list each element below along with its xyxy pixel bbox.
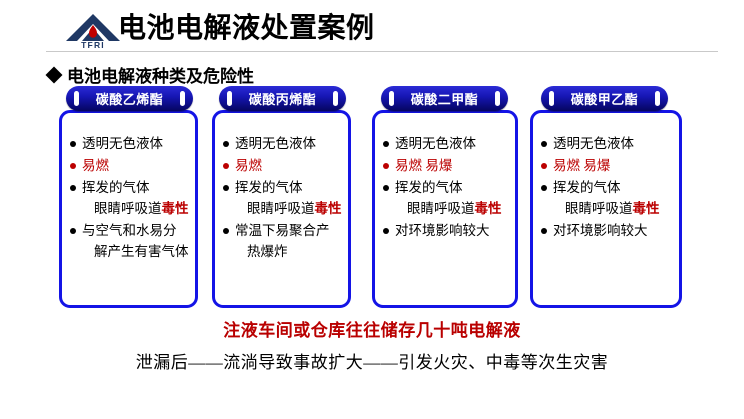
- list-item-line2: 解产生有害气体: [82, 241, 189, 262]
- rivet-icon: [227, 91, 232, 106]
- rivet-icon: [333, 91, 338, 106]
- list-item-line1: 对环境影响较大: [553, 223, 648, 238]
- bullet-dot-icon: [223, 163, 229, 169]
- card-title: 碳酸丙烯酯: [249, 89, 317, 108]
- list-item-line1: 透明无色液体: [553, 136, 634, 151]
- warning-text: 注液车间或仓库往往储存几十吨电解液: [0, 318, 744, 344]
- list-item-line1: 易燃 易爆: [553, 158, 610, 173]
- substance-card: 透明无色液体 易燃 易爆 挥发的气体 眼睛呼吸道毒性: [530, 110, 682, 308]
- list-item-line1: 挥发的气体: [235, 180, 303, 195]
- list-item-line1: 易燃: [82, 158, 109, 173]
- section-heading: 电池电解液种类及危险性: [48, 62, 254, 87]
- list-item-line2-emphasis: 毒性: [475, 201, 502, 216]
- list-item: 透明无色液体: [70, 133, 189, 154]
- hazard-list: 透明无色液体 易燃 挥发的气体 眼睛呼吸道毒性: [62, 133, 195, 263]
- slide-header: TFRI 电池电解液处置案例: [0, 0, 744, 52]
- list-item: 透明无色液体: [223, 133, 342, 154]
- list-item-line1: 透明无色液体: [235, 136, 316, 151]
- list-item-line2-emphasis: 毒性: [162, 201, 189, 216]
- substance-cards-row: 透明无色液体 易燃 挥发的气体 眼睛呼吸道毒性: [0, 98, 744, 313]
- list-item: 对环境影响较大: [383, 220, 509, 241]
- bullet-dot-icon: [223, 228, 229, 234]
- list-item-line2-emphasis: 毒性: [633, 201, 660, 216]
- list-item: 易燃 易爆: [541, 155, 673, 176]
- rivet-icon: [655, 91, 660, 106]
- list-item: 挥发的气体 眼睛呼吸道毒性: [223, 177, 342, 219]
- title-divider: [46, 51, 718, 52]
- conclusion-block: 注液车间或仓库往往储存几十吨电解液 泄漏后——流淌导致事故扩大——引发火灾、中毒…: [0, 318, 744, 378]
- list-item-line1: 与空气和水易分: [82, 223, 177, 238]
- rivet-icon: [495, 91, 500, 106]
- hazard-list: 透明无色液体 易燃 挥发的气体 眼睛呼吸道毒性: [215, 133, 348, 263]
- list-item-line2: 眼睛呼吸道: [94, 201, 162, 216]
- card-header-plaque: 碳酸二甲酯: [381, 86, 508, 111]
- list-item-line2: 眼睛呼吸道: [565, 201, 633, 216]
- list-item-line1: 透明无色液体: [395, 136, 476, 151]
- card-header-plaque: 碳酸甲乙酯: [541, 86, 668, 111]
- list-item: 易燃: [70, 155, 189, 176]
- list-item: 对环境影响较大: [541, 220, 673, 241]
- list-item: 易燃 易爆: [383, 155, 509, 176]
- bullet-dot-icon: [70, 141, 76, 147]
- rivet-icon: [549, 91, 554, 106]
- card-header-plaque: 碳酸丙烯酯: [219, 86, 346, 111]
- list-item-line2: 眼睛呼吸道: [247, 201, 315, 216]
- card-title: 碳酸甲乙酯: [571, 89, 639, 108]
- bullet-dot-icon: [383, 163, 389, 169]
- rivet-icon: [389, 91, 394, 106]
- bullet-dot-icon: [383, 141, 389, 147]
- list-item-line2-emphasis: 毒性: [315, 201, 342, 216]
- bullet-dot-icon: [223, 141, 229, 147]
- list-item-line1: 挥发的气体: [395, 180, 463, 195]
- page-title: 电池电解液处置案例: [118, 10, 375, 46]
- list-item: 透明无色液体: [383, 133, 509, 154]
- substance-card: 透明无色液体 易燃 挥发的气体 眼睛呼吸道毒性: [59, 110, 198, 308]
- card-header-plaque: 碳酸乙烯酯: [66, 86, 193, 111]
- list-item-line1: 挥发的气体: [82, 180, 150, 195]
- bullet-dot-icon: [70, 163, 76, 169]
- list-item-line1: 挥发的气体: [553, 180, 621, 195]
- list-item: 透明无色液体: [541, 133, 673, 154]
- bullet-dot-icon: [383, 228, 389, 234]
- card-title: 碳酸乙烯酯: [96, 89, 164, 108]
- list-item-line1: 对环境影响较大: [395, 223, 490, 238]
- list-item: 挥发的气体 眼睛呼吸道毒性: [383, 177, 509, 219]
- bullet-dot-icon: [70, 228, 76, 234]
- list-item-line1: 常温下易聚合产: [235, 223, 330, 238]
- list-item-line1: 透明无色液体: [82, 136, 163, 151]
- rivet-icon: [74, 91, 79, 106]
- substance-card: 透明无色液体 易燃 易爆 挥发的气体 眼睛呼吸道毒性: [372, 110, 518, 308]
- bullet-dot-icon: [223, 185, 229, 191]
- hazard-list: 透明无色液体 易燃 易爆 挥发的气体 眼睛呼吸道毒性: [375, 133, 515, 242]
- card-title: 碳酸二甲酯: [411, 89, 479, 108]
- rivet-icon: [180, 91, 185, 106]
- tfri-triangle-flame-logo: TFRI: [62, 12, 124, 50]
- consequence-chain-text: 泄漏后——流淌导致事故扩大——引发火灾、中毒等次生灾害: [0, 348, 744, 378]
- list-item: 挥发的气体 眼睛呼吸道毒性: [70, 177, 189, 219]
- list-item-line1: 易燃 易爆: [395, 158, 452, 173]
- bullet-dot-icon: [541, 228, 547, 234]
- list-item-line1: 易燃: [235, 158, 262, 173]
- hazard-list: 透明无色液体 易燃 易爆 挥发的气体 眼睛呼吸道毒性: [533, 133, 679, 242]
- list-item: 与空气和水易分 解产生有害气体: [70, 220, 189, 262]
- bullet-dot-icon: [383, 185, 389, 191]
- list-item: 挥发的气体 眼睛呼吸道毒性: [541, 177, 673, 219]
- list-item: 易燃: [223, 155, 342, 176]
- logo-wordmark: TFRI: [81, 40, 105, 50]
- bullet-dot-icon: [70, 185, 76, 191]
- list-item: 常温下易聚合产 热爆炸: [223, 220, 342, 262]
- list-item-line2: 眼睛呼吸道: [407, 201, 475, 216]
- bullet-dot-icon: [541, 163, 547, 169]
- section-heading-label: 电池电解液种类及危险性: [67, 62, 254, 87]
- bullet-dot-icon: [541, 141, 547, 147]
- bullet-dot-icon: [541, 185, 547, 191]
- substance-card: 透明无色液体 易燃 挥发的气体 眼睛呼吸道毒性: [212, 110, 351, 308]
- list-item-line2: 热爆炸: [235, 241, 330, 262]
- diamond-icon: [46, 66, 63, 83]
